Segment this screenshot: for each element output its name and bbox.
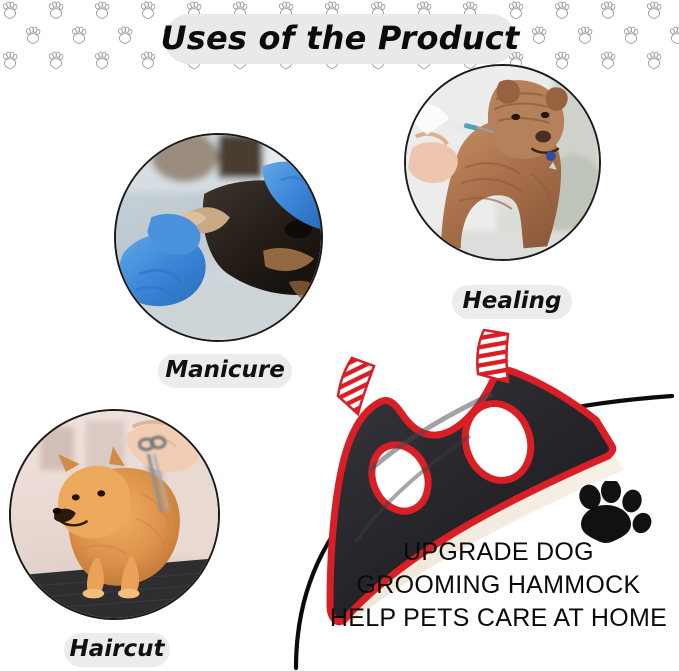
use-label-manicure: Manicure [158,354,292,388]
infographic-canvas: Uses of the Product [0,0,679,671]
leg-hole-left [362,436,438,519]
use-label-healing-text: Healing [463,290,562,313]
tagline-line-1: UPGRADE DOG [318,536,679,569]
use-photo-manicure [114,133,323,342]
paw-print-icon [576,481,652,543]
use-label-haircut-text: Haircut [70,638,165,661]
strap-left [338,358,374,414]
haircut-photo [11,411,218,618]
healing-photo [406,66,599,259]
tagline-line-3: HELP PETS CARE AT HOME [318,602,679,635]
leg-hole-right [456,395,541,489]
use-photo-haircut [9,409,220,620]
page-title: Uses of the Product [161,22,520,54]
use-photo-healing [404,64,601,261]
tagline-line-2: GROOMING HAMMOCK [318,569,679,602]
strap-right [477,330,508,382]
page-title-badge: Uses of the Product [164,14,516,64]
use-label-manicure-text: Manicure [165,359,285,382]
use-label-healing: Healing [452,285,572,319]
product-tagline: UPGRADE DOG GROOMING HAMMOCK HELP PETS C… [318,536,679,635]
manicure-photo [116,135,321,340]
use-label-haircut: Haircut [64,633,170,667]
